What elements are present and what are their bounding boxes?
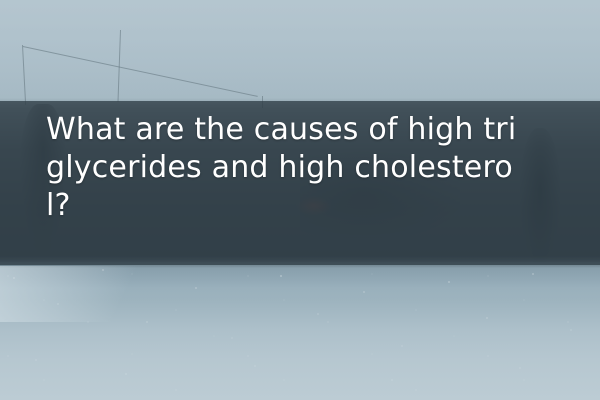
caption-question-text: What are the causes of high tri glycerid… [0,101,516,225]
water-sparkle-layer-fine [0,266,600,400]
caption-overlay-band: What are the causes of high tri glycerid… [0,101,600,265]
screenshot-canvas: What are the causes of high tri glycerid… [0,0,600,400]
